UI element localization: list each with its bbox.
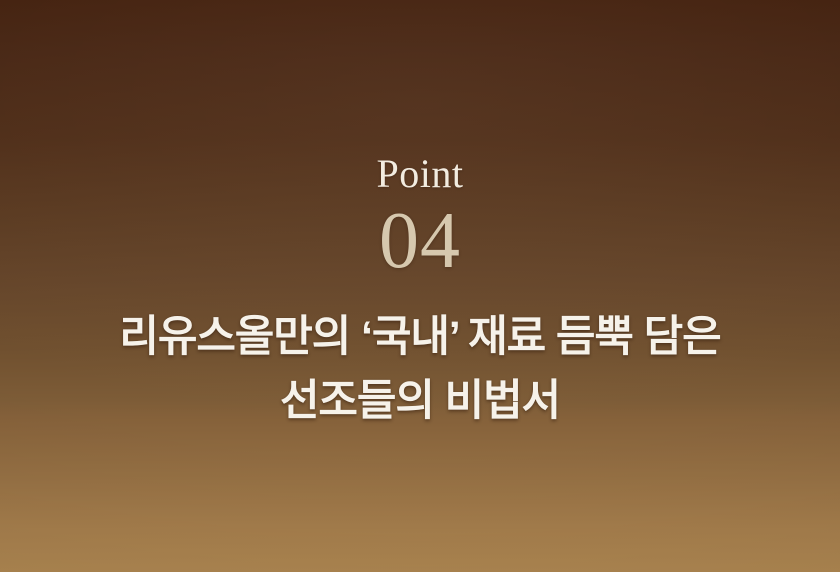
promo-slide: Point 04 리유스올만의 ‘국내’ 재료 듬뿍 담은 선조들의 비법서 bbox=[0, 0, 840, 572]
eyebrow-block: Point 04 bbox=[0, 150, 840, 282]
headline-line-2: 선조들의 비법서 bbox=[24, 372, 816, 430]
point-number: 04 bbox=[0, 200, 840, 282]
headline: 리유스올만의 ‘국내’ 재료 듬뿍 담은 선조들의 비법서 bbox=[0, 308, 840, 430]
point-label: Point bbox=[0, 150, 840, 198]
headline-line-1: 리유스올만의 ‘국내’ 재료 듬뿍 담은 bbox=[24, 308, 816, 366]
